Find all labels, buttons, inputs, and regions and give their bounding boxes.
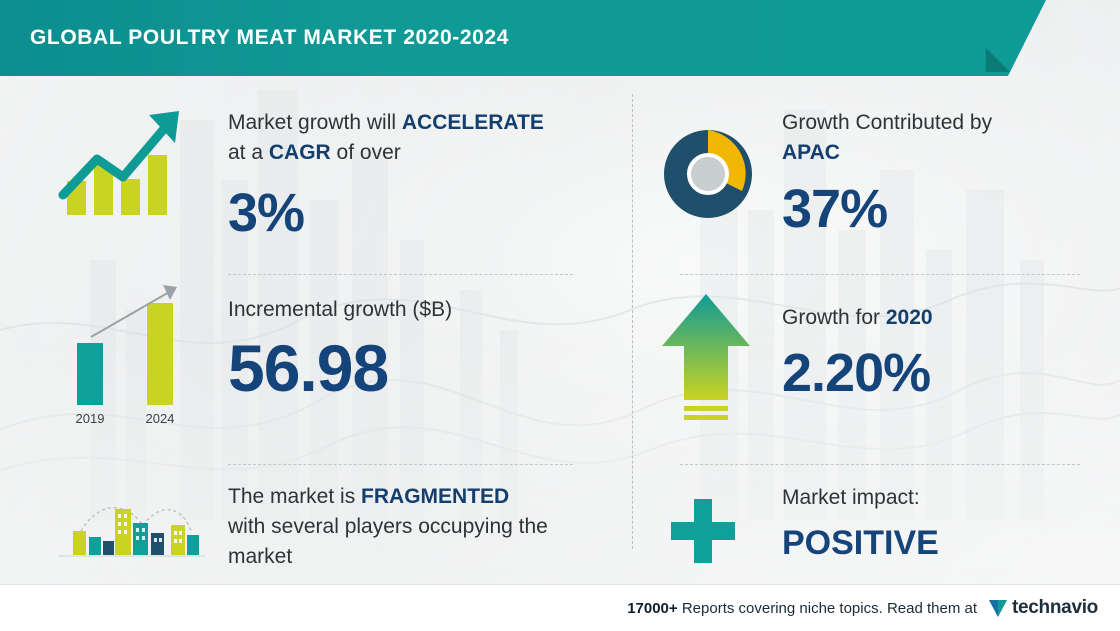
footer-text: 17000+ Reports covering niche topics. Re… [627, 600, 977, 617]
footer-caption: Reports covering niche topics. Read them… [682, 600, 977, 617]
technavio-mark-icon [987, 597, 1009, 619]
cagr-line2-plain-a: at a [228, 141, 269, 164]
apac-region-bold: APAC [782, 141, 840, 164]
fragmentation-text-block: The market is FRAGMENTED with several pl… [228, 482, 628, 572]
growth2020-label-plain: Growth for [782, 306, 886, 329]
page-title: GLOBAL POULTRY MEAT MARKET 2020-2024 [30, 26, 509, 50]
growth2020-label: Growth for 2020 [782, 306, 1112, 330]
apac-line-2: APAC [782, 138, 1112, 168]
fragmentation-line1-bold: FRAGMENTED [361, 485, 509, 508]
fragmentation-line-1: The market is FRAGMENTED [228, 482, 628, 512]
right-divider-1 [680, 274, 1080, 275]
city-buildings-network-icon [48, 476, 213, 581]
up-arrow-icon [648, 288, 763, 438]
apac-value: 37% [782, 178, 1112, 240]
fragmentation-line1-plain: The market is [228, 485, 361, 508]
growth2020-text-block: Growth for 2020 2.20% [782, 306, 1112, 404]
header-corner-fold [970, 0, 1010, 76]
column-divider [632, 94, 633, 549]
footer-report-count: 17000+ [627, 600, 677, 617]
right-divider-2 [680, 464, 1080, 465]
two-bars-growth-icon: 2019 2024 [48, 281, 213, 431]
apac-line-1: Growth Contributed by [782, 108, 1112, 138]
impact-value: POSITIVE [782, 524, 1112, 563]
impact-label: Market impact: [782, 486, 1112, 510]
technavio-logo[interactable]: technavio [987, 597, 1098, 619]
cagr-line1-bold: ACCELERATE [402, 111, 544, 134]
left-divider-2 [228, 464, 573, 465]
header-bar: GLOBAL POULTRY MEAT MARKET 2020-2024 [0, 0, 1008, 76]
cagr-value: 3% [228, 182, 618, 244]
cagr-line-2: at a CAGR of over [228, 138, 618, 168]
plus-icon [648, 481, 758, 581]
donut-chart-icon [648, 114, 768, 234]
technavio-wordmark: technavio [1012, 597, 1098, 619]
cagr-line1-plain: Market growth will [228, 111, 402, 134]
apac-text-block: Growth Contributed by APAC 37% [782, 108, 1112, 240]
infographic-page: GLOBAL POULTRY MEAT MARKET 2020-2024 Mar… [0, 0, 1120, 630]
bar-label-2019: 2019 [75, 411, 104, 426]
cagr-line2-bold: CAGR [269, 141, 331, 164]
fragmentation-line-3: market [228, 542, 628, 572]
content-area: Market growth will ACCELERATE at a CAGR … [0, 76, 1120, 584]
cagr-text-block: Market growth will ACCELERATE at a CAGR … [228, 108, 618, 244]
impact-text-block: Market impact: POSITIVE [782, 486, 1112, 563]
cagr-line-1: Market growth will ACCELERATE [228, 108, 618, 138]
incremental-value: 56.98 [228, 330, 618, 406]
growth2020-value: 2.20% [782, 342, 1112, 404]
incremental-label: Incremental growth ($B) [228, 298, 618, 322]
incremental-text-block: Incremental growth ($B) 56.98 [228, 298, 618, 406]
cagr-line2-plain-b: of over [331, 141, 401, 164]
growth-bar-chart-arrow-icon [48, 98, 208, 228]
fragmentation-line-2: with several players occupying the [228, 512, 628, 542]
footer-bar: 17000+ Reports covering niche topics. Re… [0, 584, 1120, 631]
growth2020-label-bold: 2020 [886, 306, 933, 329]
left-divider-1 [228, 274, 573, 275]
bar-label-2024: 2024 [145, 411, 174, 426]
